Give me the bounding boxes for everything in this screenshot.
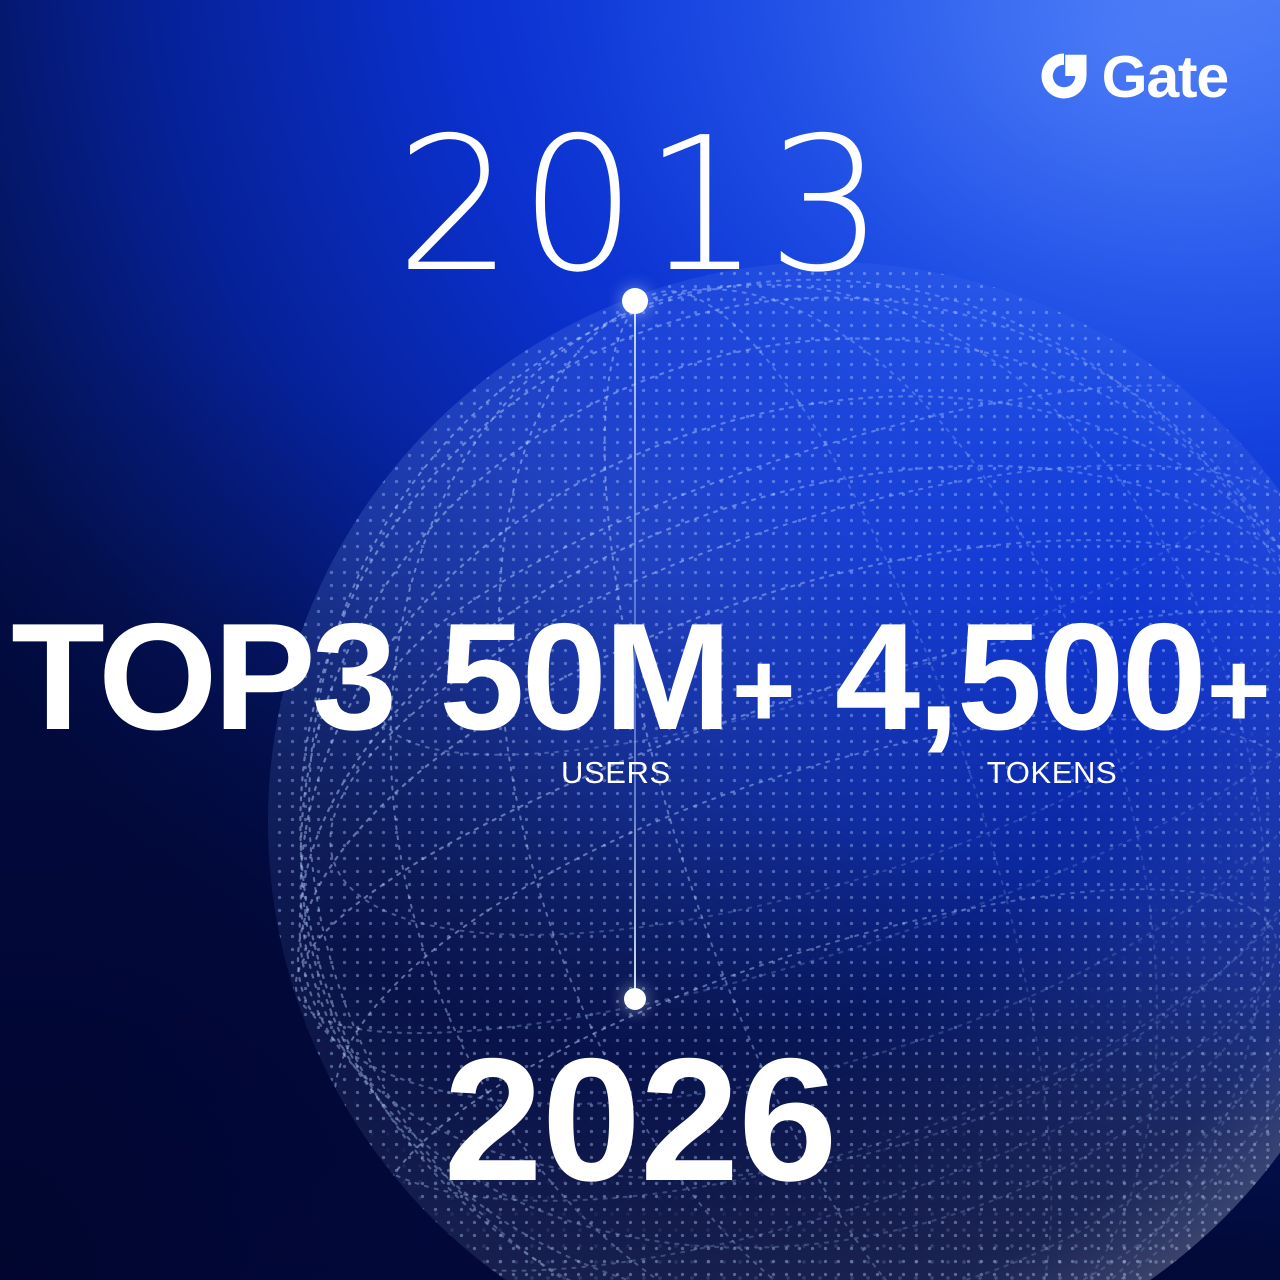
- stat-users-suffix: +: [731, 640, 793, 740]
- stat-users-number: 50M: [439, 607, 729, 748]
- stat-users-label: USERS: [441, 757, 792, 788]
- stat-tokens-label: TOKENS: [837, 757, 1266, 788]
- stat-users: 50M+ USERS: [441, 607, 792, 748]
- timeline-end-dot: [624, 988, 646, 1010]
- gate-circle-mark-icon: [1039, 51, 1089, 101]
- end-year: 2026: [0, 1033, 1280, 1208]
- stat-ranking: TOP3: [13, 607, 394, 748]
- stat-tokens: 4,500+ TOKENS: [837, 607, 1266, 748]
- stat-tokens-suffix: +: [1207, 640, 1269, 740]
- stat-tokens-number: 4,500: [835, 607, 1204, 748]
- stat-ranking-value: TOP3: [11, 607, 396, 748]
- stat-ranking-number: TOP3: [11, 607, 393, 748]
- brand-logo[interactable]: Gate: [1039, 46, 1228, 106]
- brand-wordmark: Gate: [1102, 48, 1228, 107]
- promo-poster: Gate 2013 TOP3 50M+ USERS 4,500+ TOKENS …: [0, 0, 1280, 1280]
- stat-users-value: 50M+: [439, 607, 793, 748]
- start-year: 2013: [0, 113, 1280, 298]
- stats-row: TOP3 50M+ USERS 4,500+ TOKENS: [0, 548, 1280, 748]
- stat-tokens-value: 4,500+: [835, 607, 1269, 748]
